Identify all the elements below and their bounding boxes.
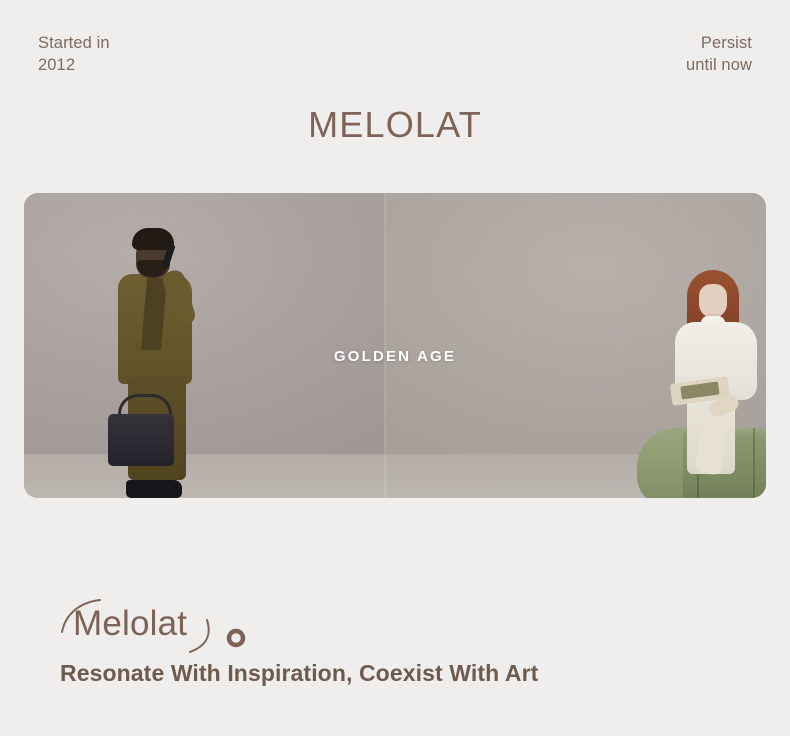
founding-note-line2: 2012	[38, 54, 110, 76]
logo-wordmark: Melolat	[73, 602, 187, 646]
page-header: Started in 2012 Persist until now MELOLA…	[0, 0, 790, 193]
founding-note: Started in 2012	[38, 32, 110, 76]
hero-overlay-text: GOLDEN AGE	[24, 348, 766, 365]
persistence-note-line1: Persist	[686, 32, 752, 54]
image-seam-divider	[384, 193, 386, 498]
hero-left-photo	[24, 193, 385, 498]
founding-note-line1: Started in	[38, 32, 110, 54]
woman-face	[699, 284, 727, 318]
page-footer: Melolat Resonate With Inspiration, Coexi…	[0, 498, 790, 736]
woman-figure	[665, 270, 766, 480]
page-title: MELOLAT	[0, 104, 790, 146]
brand-logo: Melolat	[60, 598, 290, 654]
brand-tagline: Resonate With Inspiration, Coexist With …	[60, 658, 538, 688]
persistence-note: Persist until now	[686, 32, 752, 76]
persistence-note-line2: until now	[686, 54, 752, 76]
hero-right-photo	[385, 193, 766, 498]
hero-banner: GOLDEN AGE	[24, 193, 766, 498]
magazine-page	[680, 381, 719, 399]
man-shoe	[126, 480, 182, 498]
briefcase	[108, 414, 174, 466]
